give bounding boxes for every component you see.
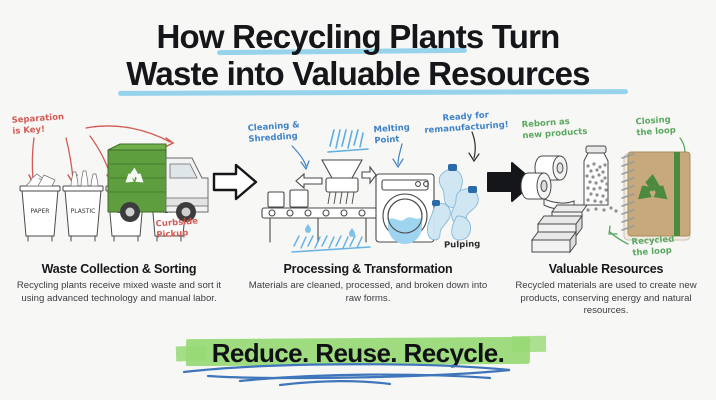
recycled-the-loop-note: Recycled the loop	[631, 235, 675, 259]
page-title: How Recycling Plants Turn Waste into Val…	[0, 18, 716, 92]
caption-collection-text: Recycling plants receive mixed waste and…	[14, 280, 224, 305]
swoosh-underline	[180, 364, 540, 390]
separation-is-key-note: Separation is Key!	[11, 112, 65, 137]
caption-resources-heading: Valuable Resources	[500, 262, 712, 276]
closing-the-loop-note: Closing the loop	[635, 115, 676, 139]
recycling-truck	[108, 144, 208, 222]
caption-collection: Waste Collection & Sorting Recycling pla…	[14, 262, 224, 305]
cleaning-shredding-note: Cleaning & Shredding	[247, 120, 300, 145]
recycled-notebook	[622, 152, 690, 240]
title-line-2-text: Waste into Valuable Resources	[126, 55, 589, 92]
caption-processing-heading: Processing & Transformation	[248, 262, 488, 276]
bin-label-paper: PAPER	[31, 208, 50, 215]
paper-rolls	[521, 156, 574, 209]
stage-illustration-collection: Separation is Key!	[8, 112, 220, 260]
caption-resources-text: Recycled materials are used to create ne…	[500, 280, 712, 318]
curbside-pickup-note: Curbside Pickup	[155, 217, 199, 241]
metal-ingots	[532, 205, 587, 252]
bin-label-plastic: PLASTIC	[71, 208, 96, 215]
pellet-jar	[575, 146, 617, 213]
stage-illustration-processing: Cleaning & Shredding Melting Point Ready…	[248, 112, 488, 260]
title-line-2: Waste into Valuable Resources	[126, 55, 589, 92]
infographic-canvas: How Recycling Plants Turn Waste into Val…	[0, 0, 716, 400]
pulping-note: Pulping	[444, 239, 481, 251]
caption-collection-heading: Waste Collection & Sorting	[14, 262, 224, 276]
illustration-row: Separation is Key!	[0, 112, 716, 260]
title-line-1: How Recycling Plants Turn	[157, 18, 560, 55]
crushed-bottles	[427, 164, 478, 240]
caption-resources: Valuable Resources Recycled materials ar…	[500, 262, 712, 318]
slogan-banner: Reduce. Reuse. Recycle.	[0, 332, 716, 392]
melting-point-note: Melting Point	[373, 123, 411, 146]
stage-illustration-resources: Reborn as new products Closing the loop	[508, 112, 712, 260]
caption-processing-text: Materials are cleaned, processed, and br…	[248, 280, 488, 305]
stage-captions: Waste Collection & Sorting Recycling pla…	[0, 262, 716, 324]
title-line-1-text: How Recycling Plants Turn	[157, 18, 560, 55]
caption-processing: Processing & Transformation Materials ar…	[248, 262, 488, 305]
ready-for-remanufacturing-note: Ready for remanufacturing!	[423, 109, 509, 136]
